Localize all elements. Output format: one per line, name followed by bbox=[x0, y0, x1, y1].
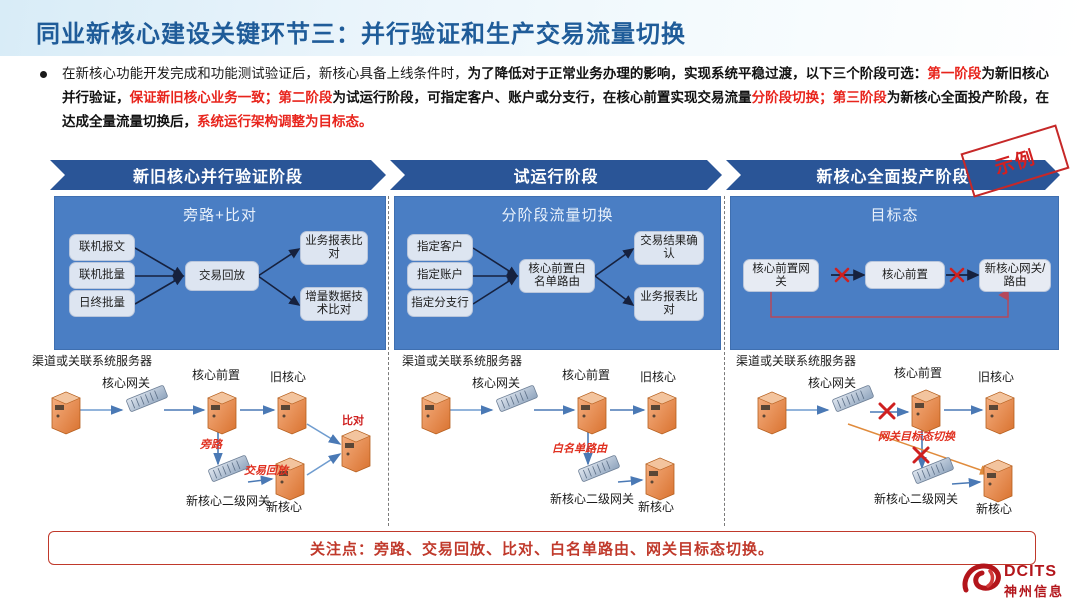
panel2-middle[interactable]: 核心前置白名单路由 bbox=[519, 259, 595, 293]
server-icon-source bbox=[758, 392, 786, 434]
server-icon-new-core bbox=[984, 460, 1012, 502]
server-icon-source bbox=[52, 392, 80, 434]
focus-points-box: 关注点：旁路、交易回放、比对、白名单路由、网关目标态切换。 bbox=[48, 531, 1036, 565]
panel1-input-2[interactable]: 联机批量 bbox=[69, 262, 135, 289]
panel1-input-1[interactable]: 联机报文 bbox=[69, 234, 135, 261]
panel2-input-3[interactable]: 指定分支行 bbox=[407, 290, 473, 317]
logo-text-cn: 神州信息 bbox=[1004, 581, 1064, 600]
infra2-label-new-core: 新核心 bbox=[638, 500, 674, 514]
infra1-label-front: 核心前置 bbox=[192, 368, 240, 382]
infra3-label-source: 渠道或关联系统服务器 bbox=[736, 354, 856, 368]
flow-panel-2-title: 分阶段流量切换 bbox=[395, 204, 720, 225]
bullet-dot-icon bbox=[40, 71, 47, 78]
logo-text-en: DCITS bbox=[1004, 563, 1057, 581]
bullet-seg-5: 保证新旧核心业务一致； bbox=[130, 90, 279, 105]
gateway-icon-sub bbox=[912, 457, 954, 484]
phase-banner-2[interactable]: 试运行阶段 bbox=[390, 160, 722, 190]
infra2-label-whitelist: 白名单路由 bbox=[552, 442, 607, 456]
panel2-input-2[interactable]: 指定账户 bbox=[407, 262, 473, 289]
bullet-seg-9: 第三阶段 bbox=[833, 90, 887, 105]
infra2-label-source: 渠道或关联系统服务器 bbox=[402, 354, 522, 368]
bullet-seg-7: 为试运行阶段，可指定客户、账户或分支行，在核心前置实现交易流量 bbox=[332, 90, 751, 105]
slide-root: 同业新核心建设关键环节三：并行验证和生产交易流量切换 在新核心功能开发完成和功能… bbox=[0, 0, 1080, 608]
flow-panel-2: 分阶段流量切换 指定客户 指定账户 指定分支行 核心前置白名单路由 交易结果确认… bbox=[394, 196, 721, 350]
column-separator-2 bbox=[724, 196, 725, 526]
panel1-output-2[interactable]: 增量数据技术比对 bbox=[300, 287, 368, 321]
server-icon-new-core bbox=[646, 458, 674, 500]
page-title: 同业新核心建设关键环节三：并行验证和生产交易流量切换 bbox=[36, 14, 686, 49]
panel1-middle[interactable]: 交易回放 bbox=[185, 261, 259, 291]
flow-panel-1-title: 旁路+比对 bbox=[55, 204, 385, 225]
server-icon-old-core bbox=[986, 392, 1014, 434]
server-icon-front bbox=[208, 392, 236, 434]
column-separator-1 bbox=[388, 196, 389, 526]
infra3-label-old-core: 旧核心 bbox=[978, 370, 1014, 384]
infra1-label-replay: 交易回放 bbox=[244, 464, 288, 478]
infra1-label-sub-gateway: 新核心二级网关 bbox=[186, 494, 262, 508]
flow-panel-3-title: 目标态 bbox=[731, 204, 1058, 225]
panel2-output-2[interactable]: 业务报表比对 bbox=[634, 287, 704, 321]
infra-diagram-1: 渠道或关联系统服务器 核心网关 核心前置 旧核心 比对 旁路 交易回放 新核心二… bbox=[22, 352, 384, 524]
bullet-text: 在新核心功能开发完成和功能测试验证后，新核心具备上线条件时，为了降低对于正常业务… bbox=[62, 62, 1049, 134]
infra1-label-new-core: 新核心 bbox=[266, 500, 302, 514]
panel3-node-3[interactable]: 新核心网关/路由 bbox=[979, 259, 1051, 292]
dcits-mark-icon bbox=[960, 562, 1002, 598]
panel2-output-1[interactable]: 交易结果确认 bbox=[634, 231, 704, 265]
infra1-label-gateway: 核心网关 bbox=[102, 376, 150, 390]
infra1-label-old-core: 旧核心 bbox=[270, 370, 306, 384]
infra-diagram-2: 渠道或关联系统服务器 核心网关 核心前置 旧核心 白名单路由 新核心二级网关 新… bbox=[392, 352, 722, 524]
bullet-seg-2: 为了降低对于正常业务办理的影响，实现系统平稳过渡，以下三个阶段可选： bbox=[468, 66, 928, 81]
server-icon-source bbox=[422, 392, 450, 434]
bullet-seg-1: 在新核心功能开发完成和功能测试验证后，新核心具备上线条件时， bbox=[62, 66, 468, 81]
infra2-label-sub-gateway: 新核心二级网关 bbox=[550, 492, 626, 506]
server-icon-front bbox=[578, 392, 606, 434]
infra3-label-front: 核心前置 bbox=[894, 366, 942, 380]
bullet-seg-3: 第一阶段 bbox=[927, 66, 981, 81]
server-icon-front bbox=[912, 390, 940, 432]
infra3-label-new-core: 新核心 bbox=[976, 502, 1012, 516]
infra-diagram-3: 渠道或关联系统服务器 核心网关 核心前置 旧核心 网关目标态切换 新核心二级网关… bbox=[730, 352, 1070, 524]
infra2-label-front: 核心前置 bbox=[562, 368, 610, 382]
bullet-paragraph: 在新核心功能开发完成和功能测试验证后，新核心具备上线条件时，为了降低对于正常业务… bbox=[34, 62, 1049, 134]
infra1-label-bypass: 旁路 bbox=[200, 438, 222, 452]
bullet-seg-11: 系统运行架构调整为目标态。 bbox=[197, 114, 373, 129]
panel1-input-3[interactable]: 日终批量 bbox=[69, 290, 135, 317]
panel3-node-2[interactable]: 核心前置 bbox=[865, 261, 945, 289]
bullet-seg-8: 分阶段切换； bbox=[752, 90, 833, 105]
panel1-output-1[interactable]: 业务报表比对 bbox=[300, 231, 368, 265]
server-icon-old-core bbox=[648, 392, 676, 434]
infra2-label-old-core: 旧核心 bbox=[640, 370, 676, 384]
dcits-logo: DCITS 神州信息 bbox=[960, 562, 1072, 602]
phase-banner-1[interactable]: 新旧核心并行验证阶段 bbox=[50, 160, 386, 190]
infra3-label-sub-gateway: 新核心二级网关 bbox=[874, 492, 950, 506]
infra3-label-switch: 网关目标态切换 bbox=[878, 430, 955, 444]
bullet-seg-6: 第二阶段 bbox=[278, 90, 332, 105]
gateway-icon-sub bbox=[578, 455, 620, 482]
infra2-label-gateway: 核心网关 bbox=[472, 376, 520, 390]
infra1-label-compare: 比对 bbox=[342, 414, 364, 428]
panel3-node-1[interactable]: 核心前置网关 bbox=[743, 259, 819, 292]
flow-panel-1: 旁路+比对 联机报文 联机批量 日终批量 交易回放 业务报表比对 增量数据技术比… bbox=[54, 196, 386, 350]
infra1-label-source: 渠道或关联系统服务器 bbox=[32, 354, 152, 368]
server-icon-compare bbox=[342, 430, 370, 472]
server-icon-old-core bbox=[278, 392, 306, 434]
panel2-input-1[interactable]: 指定客户 bbox=[407, 234, 473, 261]
flow-panel-3: 目标态 核心前置网关 核心前置 新核心网关/路由 bbox=[730, 196, 1059, 350]
infra3-label-gateway: 核心网关 bbox=[808, 376, 856, 390]
